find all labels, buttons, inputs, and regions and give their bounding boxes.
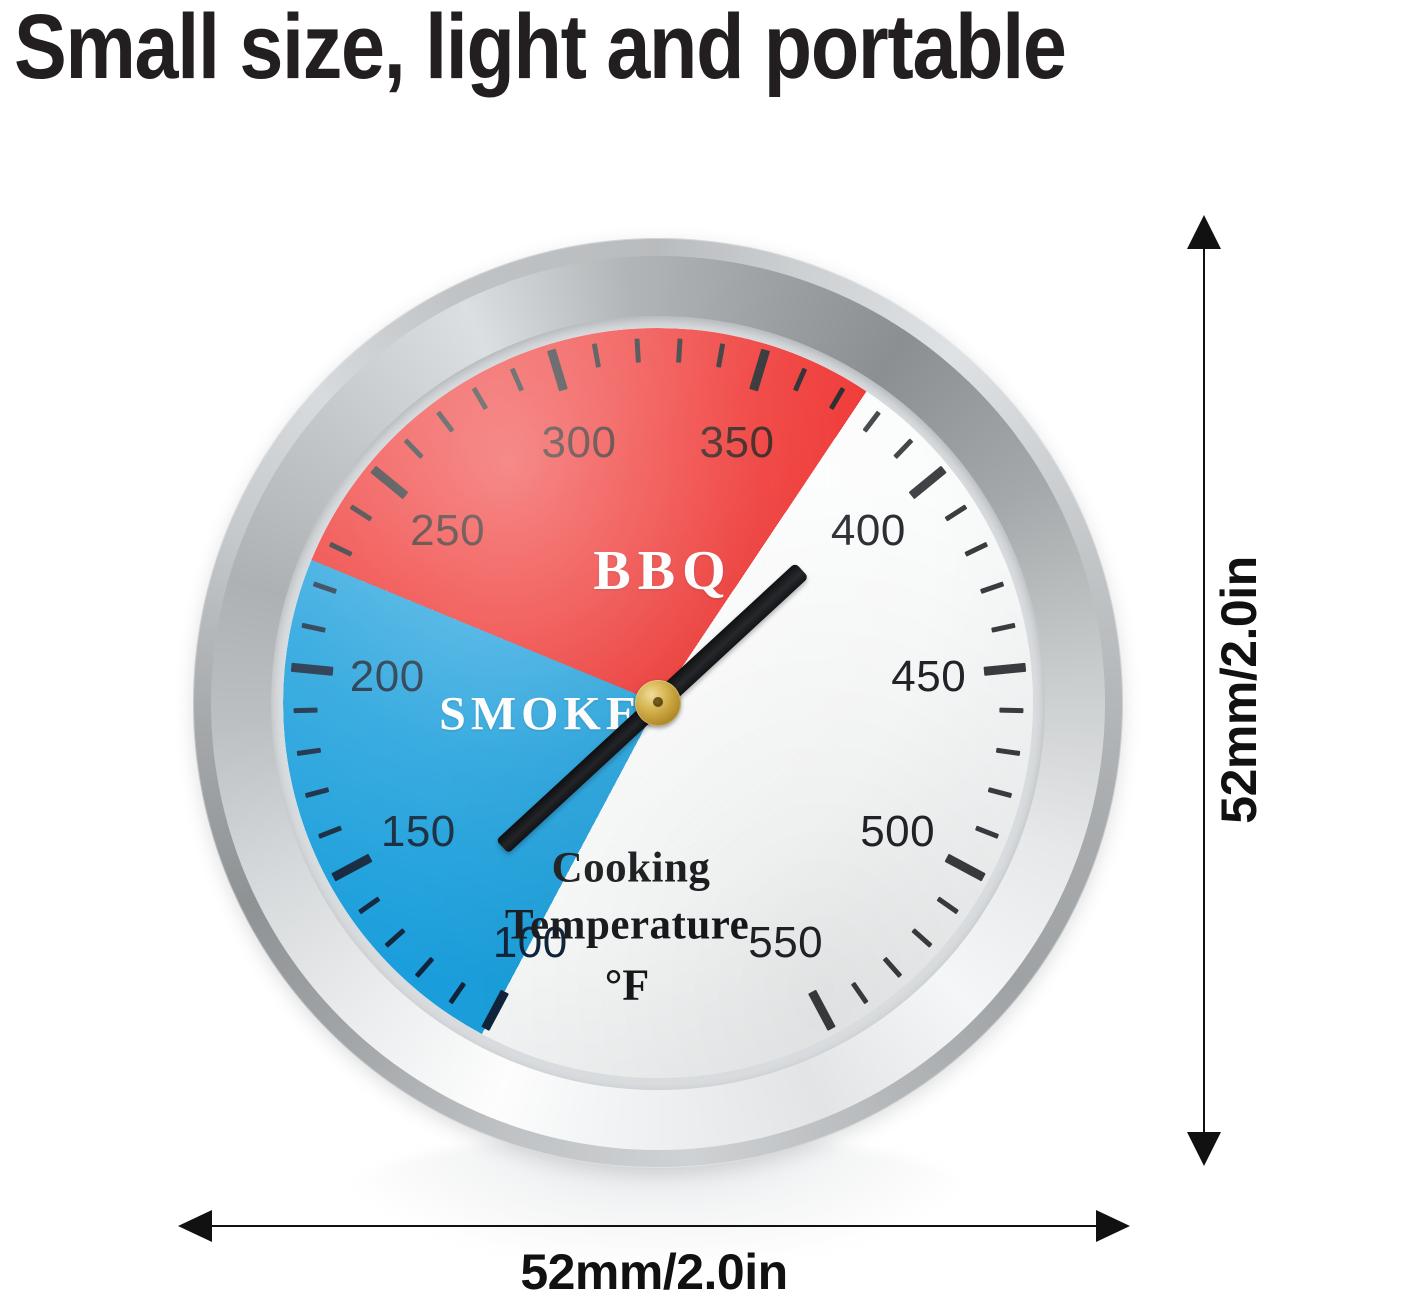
arrow-left-icon [178, 1210, 212, 1242]
dimension-label-width: 52mm/2.0in [520, 1243, 787, 1301]
scale-label-450: 450 [891, 655, 966, 699]
zone-label-bbq: BBQ [593, 539, 732, 603]
tick-minor [676, 338, 682, 362]
scale-label-400: 400 [831, 509, 906, 553]
scale-label-500: 500 [860, 810, 935, 854]
arrow-right-icon [1096, 1210, 1130, 1242]
arrow-up-icon [1187, 215, 1221, 249]
gauge-dial-face: 100150200250300350400450500550 BBQ SMOKE… [283, 328, 1033, 1078]
legend-unit: °F [605, 960, 649, 1011]
tick-minor [999, 708, 1023, 714]
legend-temperature: Temperature [505, 901, 749, 950]
scale-label-550: 550 [748, 921, 823, 965]
legend-cooking: Cooking [552, 844, 711, 893]
dimension-line-horizontal [196, 1225, 1112, 1227]
tick-minor [293, 708, 317, 714]
thermometer-gauge: 100150200250300350400450500550 BBQ SMOKE… [193, 238, 1123, 1168]
tick-minor [634, 338, 640, 362]
scale-label-150: 150 [381, 810, 456, 854]
dimension-label-height: 52mm/2.0in [1210, 556, 1268, 823]
hub-pin [653, 697, 663, 707]
scale-label-250: 250 [410, 509, 485, 553]
scale-label-300: 300 [542, 421, 617, 465]
scale-label-350: 350 [700, 421, 775, 465]
page-title: Small size, light and portable [14, 0, 1201, 102]
dimension-line-vertical [1203, 233, 1205, 1148]
arrow-down-icon [1187, 1132, 1221, 1166]
scale-label-200: 200 [350, 655, 425, 699]
needle-hub [635, 680, 681, 726]
